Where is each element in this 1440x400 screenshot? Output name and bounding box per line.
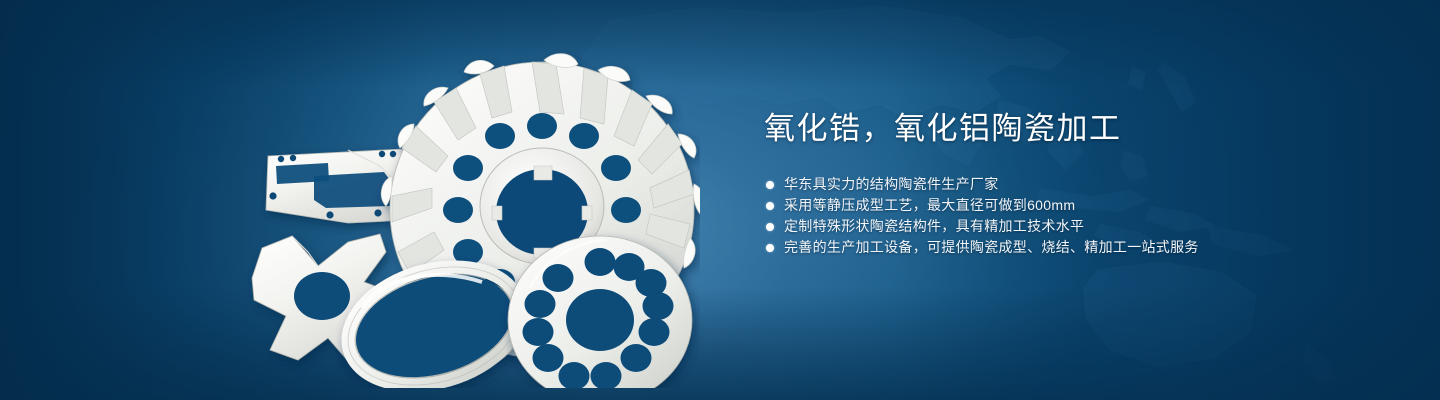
bullet-dot-icon bbox=[766, 223, 774, 231]
feature-text-3: 定制特殊形状陶瓷结构件，具有精加工技术水平 bbox=[784, 216, 1084, 237]
feature-text-1: 华东具实力的结构陶瓷件生产厂家 bbox=[784, 174, 999, 195]
feature-item-1: 华东具实力的结构陶瓷件生产厂家 bbox=[766, 174, 1364, 195]
bullet-dot-icon bbox=[766, 244, 774, 252]
banner-feature-list: 华东具实力的结构陶瓷件生产厂家 采用等静压成型工艺，最大直径可做到600mm 定… bbox=[766, 174, 1364, 258]
product-photo-collage bbox=[230, 38, 700, 388]
feature-item-4: 完善的生产加工设备，可提供陶瓷成型、烧结、精加工一站式服务 bbox=[766, 237, 1364, 258]
hero-banner: 氧化锆，氧化铝陶瓷加工 华东具实力的结构陶瓷件生产厂家 采用等静压成型工艺，最大… bbox=[0, 0, 1440, 400]
feature-item-2: 采用等静压成型工艺，最大直径可做到600mm bbox=[766, 195, 1364, 216]
bullet-dot-icon bbox=[766, 202, 774, 210]
feature-text-4: 完善的生产加工设备，可提供陶瓷成型、烧结、精加工一站式服务 bbox=[784, 237, 1199, 258]
feature-text-2: 采用等静压成型工艺，最大直径可做到600mm bbox=[784, 195, 1075, 216]
bullet-dot-icon bbox=[766, 181, 774, 189]
feature-item-3: 定制特殊形状陶瓷结构件，具有精加工技术水平 bbox=[766, 216, 1364, 237]
banner-copy: 氧化锆，氧化铝陶瓷加工 华东具实力的结构陶瓷件生产厂家 采用等静压成型工艺，最大… bbox=[764, 110, 1364, 258]
banner-headline: 氧化锆，氧化铝陶瓷加工 bbox=[764, 110, 1364, 148]
